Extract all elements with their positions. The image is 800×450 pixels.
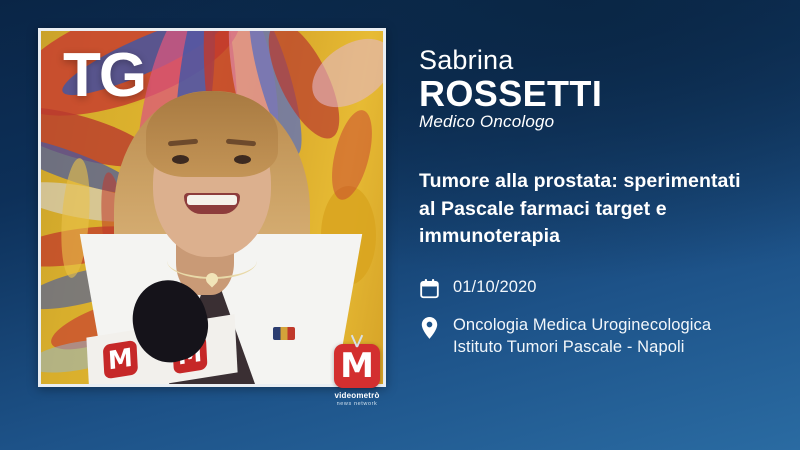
antenna-icon [340,335,374,347]
lapel-badge [273,327,295,340]
lower-third-graphic: M M TG M videometrò news network Sabrina… [0,0,800,450]
location-line-2: Istituto Tumori Pascale - Napoli [453,338,685,356]
tv-icon: M [334,344,380,388]
mic-logo-letter: M [103,340,138,379]
guest-first-name: Sabrina [419,45,513,76]
headline: Tumore alla prostata: sperimentati al Pa… [419,168,749,251]
network-logo-letter: M [340,349,374,383]
info-panel: Sabrina ROSSETTI Medico Oncologo Tumore … [419,0,789,450]
map-pin-icon [419,315,445,345]
guest-last-name: ROSSETTI [419,73,602,115]
date-row: 01/10/2020 [419,277,537,304]
calendar-icon [419,277,445,304]
network-tagline: news network [325,401,389,407]
network-logo: M videometrò news network [325,344,389,407]
tg-watermark: TG [63,45,145,107]
location-line-1: Oncologia Medica Uroginecologica [453,316,711,334]
location-row: Oncologia Medica Uroginecologica Istitut… [419,315,711,359]
guest-photo: M M TG [41,31,383,384]
guest-role: Medico Oncologo [419,112,554,132]
guest-photo-frame: M M TG [38,28,386,387]
network-name: videometrò [325,391,389,400]
date-text: 01/10/2020 [445,277,537,299]
location-text: Oncologia Medica Uroginecologica Istitut… [445,315,711,359]
